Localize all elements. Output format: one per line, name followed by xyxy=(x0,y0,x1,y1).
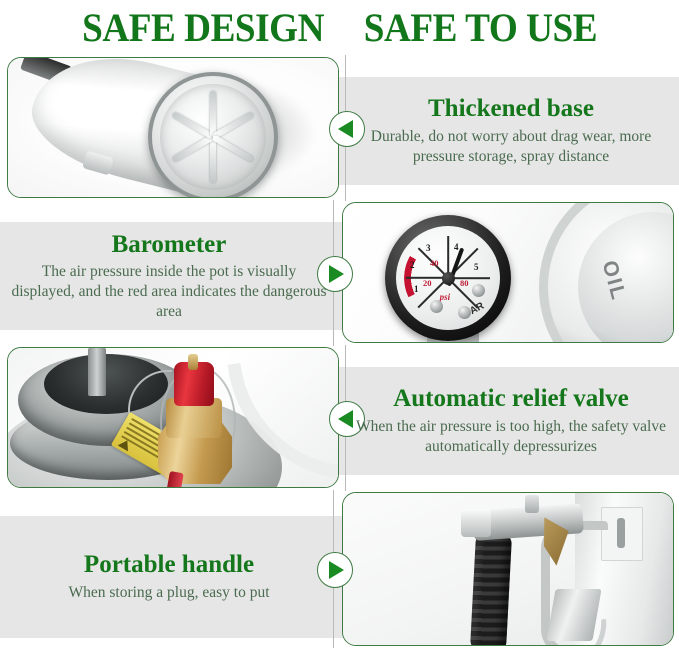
gauge-psi-tick-80: 80 xyxy=(460,278,469,288)
triangle-right-icon xyxy=(329,561,344,579)
valve-red-tube xyxy=(166,471,184,488)
pot-lid-inner xyxy=(578,212,674,343)
header-title-left: SAFE DESIGN xyxy=(82,8,324,48)
feature-image-relief-valve xyxy=(7,347,339,488)
feature-description: When storing a plug, easy to put xyxy=(68,583,269,603)
spray-gun-nut xyxy=(461,509,491,537)
header-title-right: SAFE TO USE xyxy=(364,8,597,48)
gauge-screw xyxy=(458,306,471,319)
star-arm xyxy=(212,111,255,139)
valve-pin xyxy=(188,354,198,370)
gauge-bezel: 0 1 2 3 4 5 6 20 40 80 psi BAR xyxy=(385,215,511,341)
tank-photo xyxy=(8,58,338,197)
feature-text-relief-valve: Automatic relief valve When the air pres… xyxy=(352,367,670,475)
gauge-bar-tick-4: 4 xyxy=(454,242,459,252)
spray-gun-fitting xyxy=(525,495,539,513)
supply-cord xyxy=(491,619,609,646)
feature-text-thickened-base: Thickened base Durable, do not worry abo… xyxy=(352,77,670,185)
feature-row-thickened-base: Thickened base Durable, do not worry abo… xyxy=(0,55,679,201)
star-arm xyxy=(172,134,215,162)
feature-text-barometer: Barometer The air pressure inside the po… xyxy=(10,222,328,330)
feature-description: Durable, do not worry about drag wear, m… xyxy=(353,127,669,167)
star-arm xyxy=(212,134,255,162)
feature-image-barometer: OIL 0 1 2 3 xyxy=(342,202,674,343)
triangle-right-icon xyxy=(329,265,344,283)
gauge-face: 0 1 2 3 4 5 6 20 40 80 psi BAR xyxy=(396,226,500,330)
handle-photo xyxy=(343,493,673,645)
gauge-hub xyxy=(442,272,455,285)
gauge-screw xyxy=(472,284,485,297)
triangle-left-icon xyxy=(338,120,353,138)
tank-base-inner xyxy=(160,84,266,190)
tank-base-plate xyxy=(148,72,278,198)
feature-image-thickened-base xyxy=(7,57,339,198)
feature-title: Portable handle xyxy=(84,551,254,579)
gauge-bar-tick-1: 1 xyxy=(414,284,419,294)
feature-row-portable-handle: Portable handle When storing a plug, eas… xyxy=(0,490,679,648)
gauge-screw xyxy=(430,300,443,313)
header: SAFE DESIGN SAFE TO USE xyxy=(0,0,679,55)
feature-description: The air pressure inside the pot is visua… xyxy=(11,262,327,321)
infographic-page: SAFE DESIGN SAFE TO USE xyxy=(0,0,679,648)
feature-row-relief-valve: Automatic relief valve When the air pres… xyxy=(0,345,679,491)
feature-row-barometer: OIL 0 1 2 3 xyxy=(0,200,679,346)
feature-description: When the air pressure is too high, the s… xyxy=(353,417,669,457)
spray-gun-hose xyxy=(470,532,512,646)
triangle-left-icon xyxy=(338,410,353,428)
star-arm xyxy=(172,111,215,139)
feature-title: Thickened base xyxy=(428,95,594,123)
gauge-psi-tick-20: 20 xyxy=(423,278,432,288)
feature-title: Automatic relief valve xyxy=(393,385,629,413)
star-arm xyxy=(210,91,216,137)
gauge-bar-tick-5: 5 xyxy=(474,262,479,272)
gauge-unit-psi: psi xyxy=(440,292,451,302)
feature-title: Barometer xyxy=(112,231,227,259)
feature-text-portable-handle: Portable handle When storing a plug, eas… xyxy=(10,516,328,638)
gauge-bar-tick-2: 2 xyxy=(410,260,415,270)
pot-crossbar xyxy=(88,348,106,396)
star-arm xyxy=(210,137,216,183)
gauge-photo: OIL 0 1 2 3 xyxy=(343,203,673,342)
valve-photo xyxy=(8,348,338,487)
gauge-bar-tick-3: 3 xyxy=(426,243,431,253)
gauge-psi-tick-40: 40 xyxy=(430,258,439,268)
feature-image-portable-handle xyxy=(342,492,674,646)
